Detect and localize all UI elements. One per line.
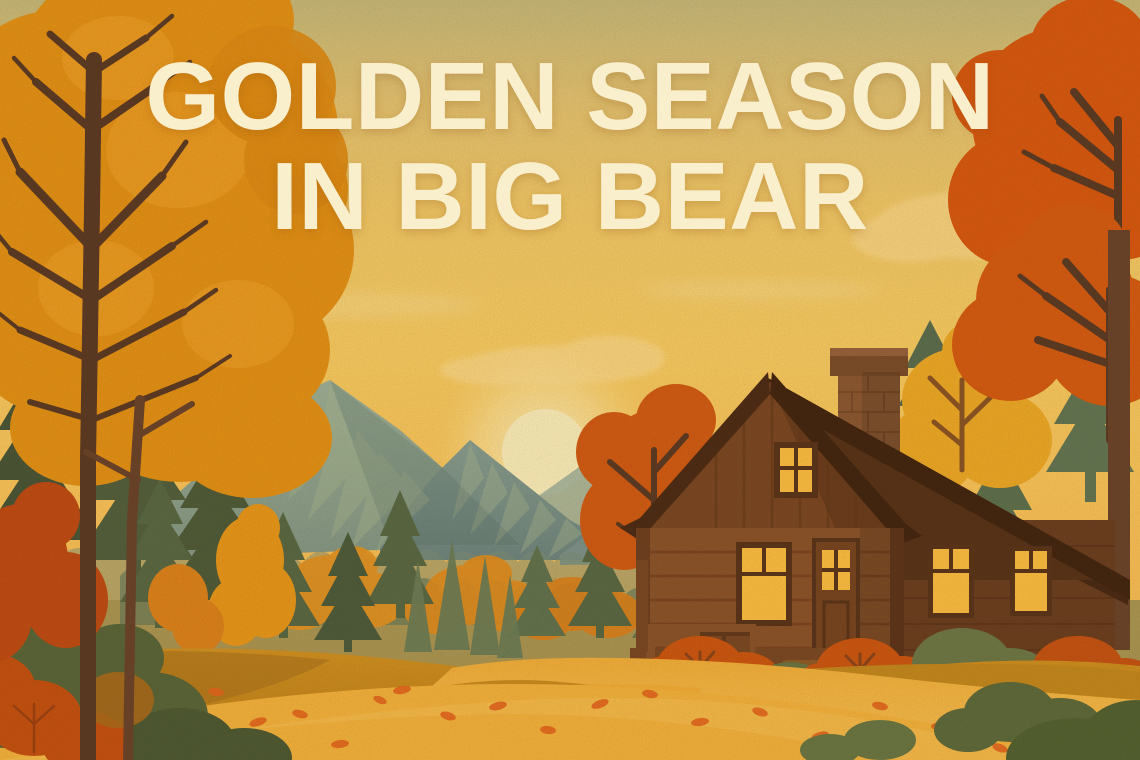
cabin-right-window-2	[1010, 546, 1052, 616]
cabin-right-window-1	[928, 544, 974, 618]
poster-canvas: GOLDEN SEASON IN BIG BEAR	[0, 0, 1140, 760]
cabin-porch-post	[636, 560, 648, 652]
cabin-front-window	[736, 542, 792, 626]
dormer-window	[774, 442, 818, 498]
autumn-landscape-illustration	[0, 0, 1140, 760]
